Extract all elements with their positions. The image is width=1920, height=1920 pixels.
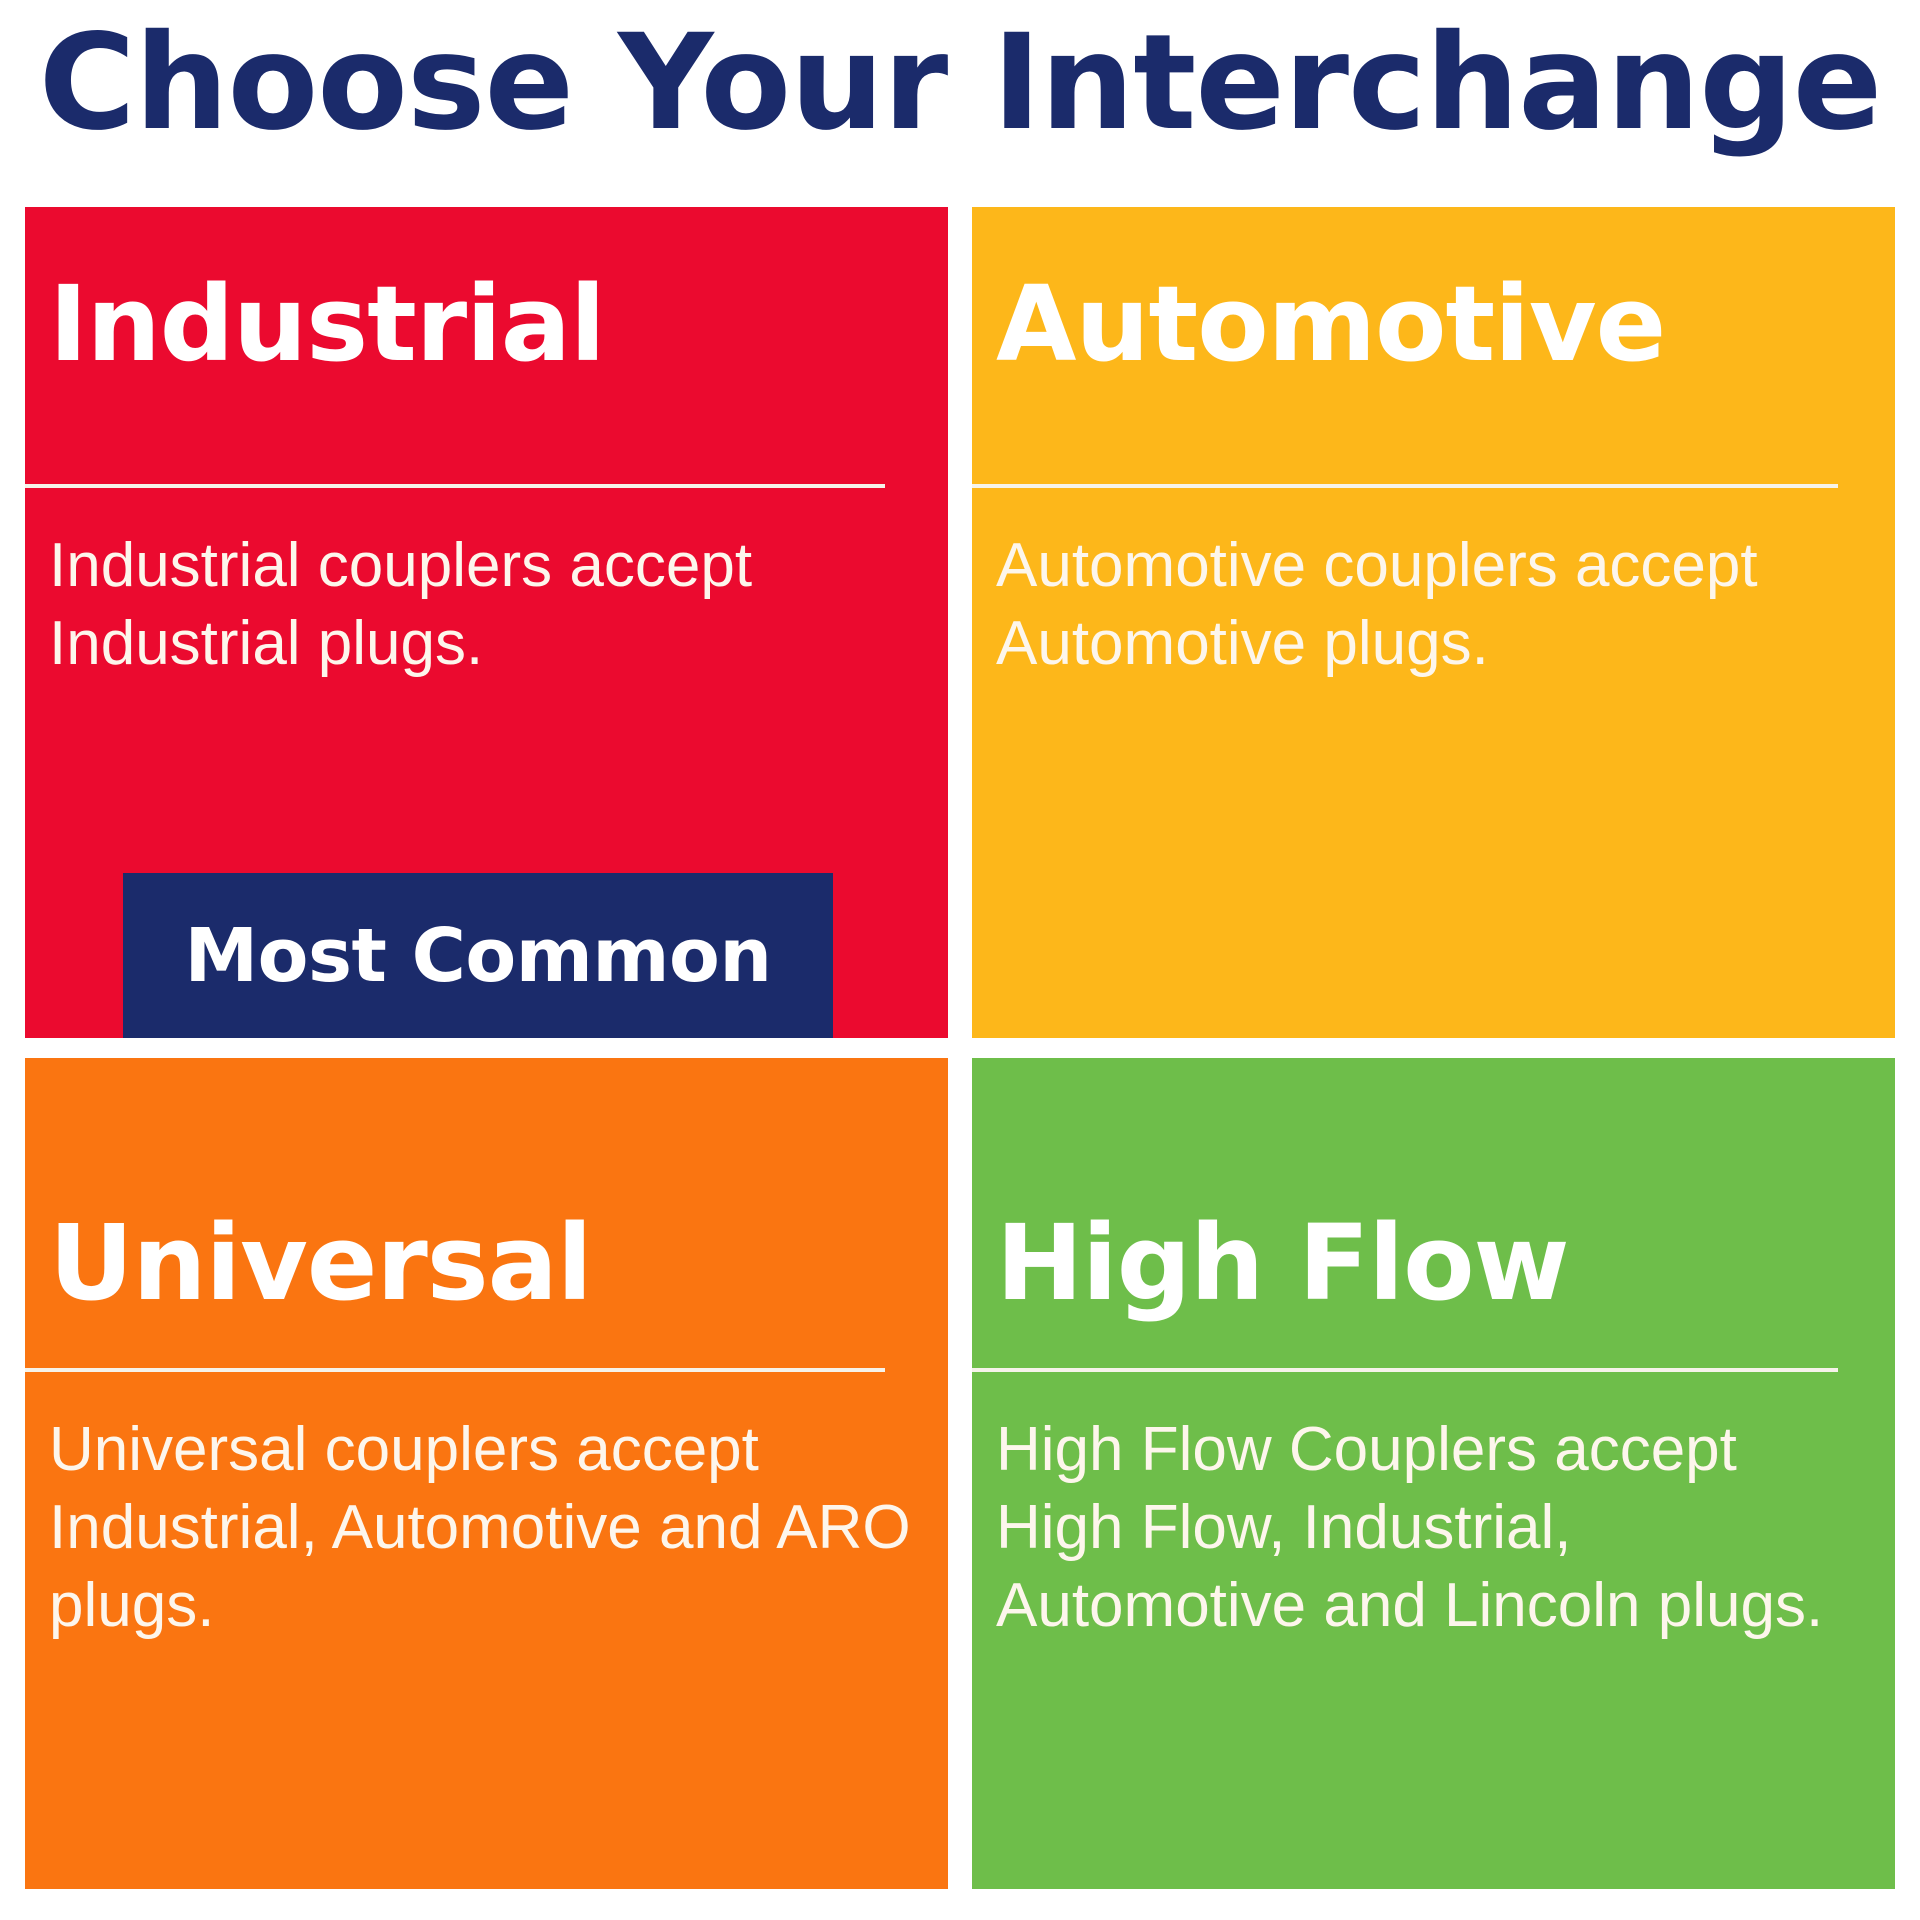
panel-universal[interactable]: Universal Universal couplers accept Indu… (25, 1058, 948, 1889)
panel-industrial-description: Industrial couplers accept Industrial pl… (49, 527, 909, 683)
panel-automotive-content: Automotive Automotive couplers accept Au… (972, 207, 1895, 1038)
panel-universal-divider (25, 1368, 885, 1372)
panel-universal-description: Universal couplers accept Industrial, Au… (49, 1411, 929, 1645)
panel-automotive-description: Automotive couplers accept Automotive pl… (996, 527, 1862, 683)
panel-industrial-content: Industrial Industrial couplers accept In… (25, 207, 948, 1038)
panel-industrial[interactable]: Industrial Industrial couplers accept In… (25, 207, 948, 1038)
panel-automotive-divider (972, 484, 1838, 488)
panel-automotive[interactable]: Automotive Automotive couplers accept Au… (972, 207, 1895, 1038)
panel-high-flow[interactable]: High Flow High Flow Couplers accept High… (972, 1058, 1895, 1889)
panel-high-flow-content: High Flow High Flow Couplers accept High… (972, 1058, 1895, 1889)
panel-automotive-heading: Automotive (996, 269, 1665, 379)
panel-high-flow-heading: High Flow (996, 1208, 1569, 1318)
most-common-badge-label: Most Common (184, 916, 771, 996)
panel-universal-heading: Universal (49, 1208, 591, 1318)
panel-industrial-divider (25, 484, 885, 488)
panel-industrial-heading: Industrial (49, 269, 605, 379)
most-common-badge: Most Common (123, 873, 833, 1038)
panel-high-flow-description: High Flow Couplers accept High Flow, Ind… (996, 1411, 1876, 1645)
panel-grid: Industrial Industrial couplers accept In… (0, 0, 1920, 1920)
panel-high-flow-divider (972, 1368, 1838, 1372)
panel-universal-content: Universal Universal couplers accept Indu… (25, 1058, 948, 1889)
